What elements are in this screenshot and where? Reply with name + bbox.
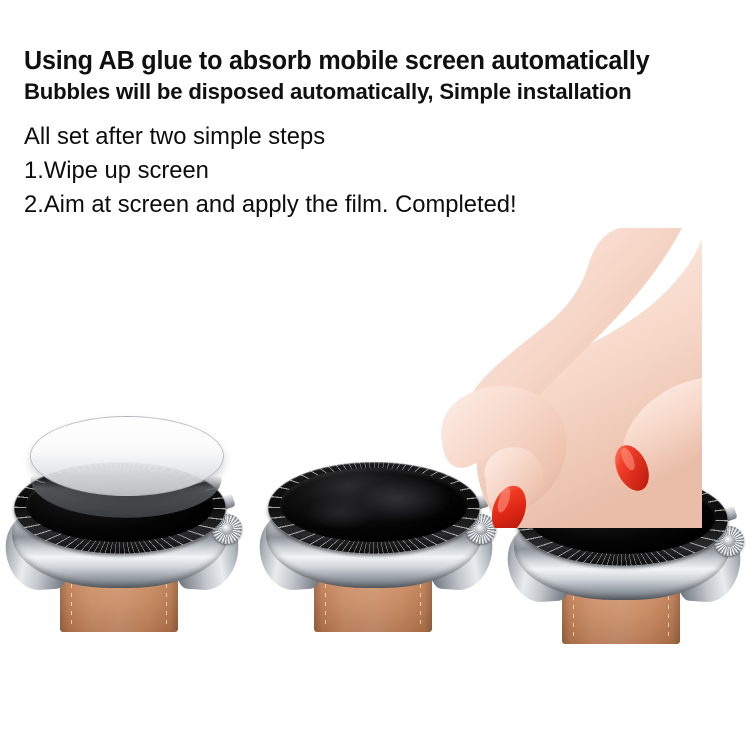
step-item-2: 2.Aim at screen and apply the film. Comp… bbox=[24, 188, 727, 222]
step-1-watch-with-floating-film: 15 10 14 20 bbox=[4, 410, 240, 660]
step-2-watch-being-pressed: 15 10 14 20 bbox=[258, 410, 494, 660]
headline-primary: Using AB glue to absorb mobile screen au… bbox=[24, 46, 723, 76]
protector-film-pressed bbox=[292, 474, 456, 532]
steps-intro: All set after two simple steps bbox=[24, 120, 727, 154]
instruction-graphic-page: Using AB glue to absorb mobile screen au… bbox=[0, 0, 750, 750]
instruction-text-block: Using AB glue to absorb mobile screen au… bbox=[24, 46, 734, 222]
step-3-watch-film-applied: 15 10 14 20 bbox=[506, 422, 742, 672]
steps-list: All set after two simple steps 1.Wipe up… bbox=[24, 120, 734, 222]
step-item-1: 1.Wipe up screen bbox=[24, 154, 727, 188]
headline-secondary: Bubbles will be disposed automatically, … bbox=[24, 77, 723, 106]
protector-film-floating bbox=[30, 416, 224, 496]
watch-screen bbox=[528, 480, 716, 554]
installation-sequence-illustration: 15 10 14 20 15 bbox=[0, 400, 750, 660]
